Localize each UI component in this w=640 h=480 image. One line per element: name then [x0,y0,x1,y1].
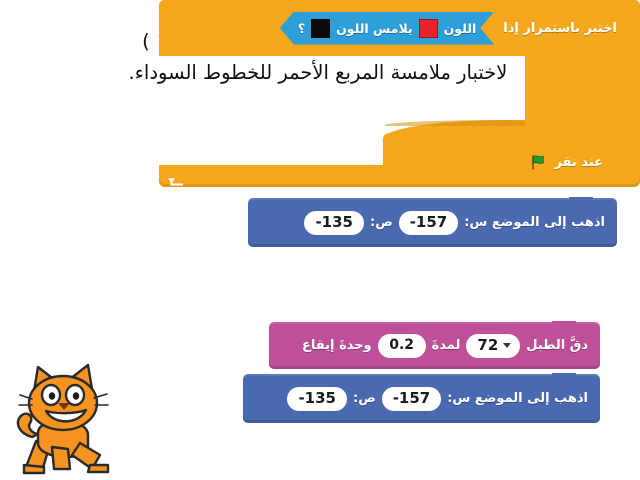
repeat-until-label: اختبر باستمرار إذا [503,21,617,36]
green-flag-icon [530,154,547,171]
drum-duration-input[interactable]: 0.2 [378,334,426,358]
boolean-color-touching-color[interactable]: اللون يلامس اللون ؟ [280,12,494,45]
block-go-to-xy-bottom[interactable]: اذهب إلى الموضع س: -157 ص: -135 [243,374,600,423]
repeat-until-header[interactable]: اختبر باستمرار إذا اللون يلامس اللون ؟ [159,0,640,56]
block-go-to-xy-top[interactable]: اذهب إلى الموضع س: -157 ص: -135 [248,198,617,247]
when-flag-clicked-label: عند نقر [554,155,603,170]
drum-dropdown[interactable]: 72 [466,334,520,358]
go-to-x-input[interactable]: -157 [382,387,442,411]
block-notch [569,197,593,202]
go-to-y-input[interactable]: -135 [304,211,364,235]
block-notch [552,373,576,378]
go-to-x-input[interactable]: -157 [399,211,459,235]
touching-color-label: يلامس اللون [336,21,413,36]
block-notch [552,321,576,326]
color-swatch-black[interactable] [311,19,330,38]
loop-arrow-icon [166,172,184,185]
go-to-y-label: ص: [370,215,393,230]
block-play-drum[interactable]: دقَّ الطبل 72 لمدةَ 0.2 وحدةَ إيقاع [269,322,600,369]
repeat-until-footer[interactable] [159,170,640,187]
chevron-down-icon [503,343,511,348]
color-swatch-red[interactable] [419,19,438,38]
go-to-xy-prefix-label: اذهب إلى الموضع س: [447,391,588,406]
play-drum-prefix-label: دقَّ الطبل [526,338,588,353]
play-drum-unit-label: وحدةَ إيقاع [302,338,372,353]
drum-dropdown-value: 72 [477,336,498,355]
hat-block-content: عند نقر [530,148,603,171]
color-word-label-1: اللون [444,21,477,36]
go-to-xy-prefix-label: اذهب إلى الموضع س: [464,215,605,230]
go-to-y-input[interactable]: -135 [287,387,347,411]
boolean-question-mark: ؟ [298,21,305,36]
go-to-y-label: ص: [353,391,376,406]
play-drum-duration-label: لمدةَ [432,338,461,353]
scratch-cat-icon [8,355,116,475]
